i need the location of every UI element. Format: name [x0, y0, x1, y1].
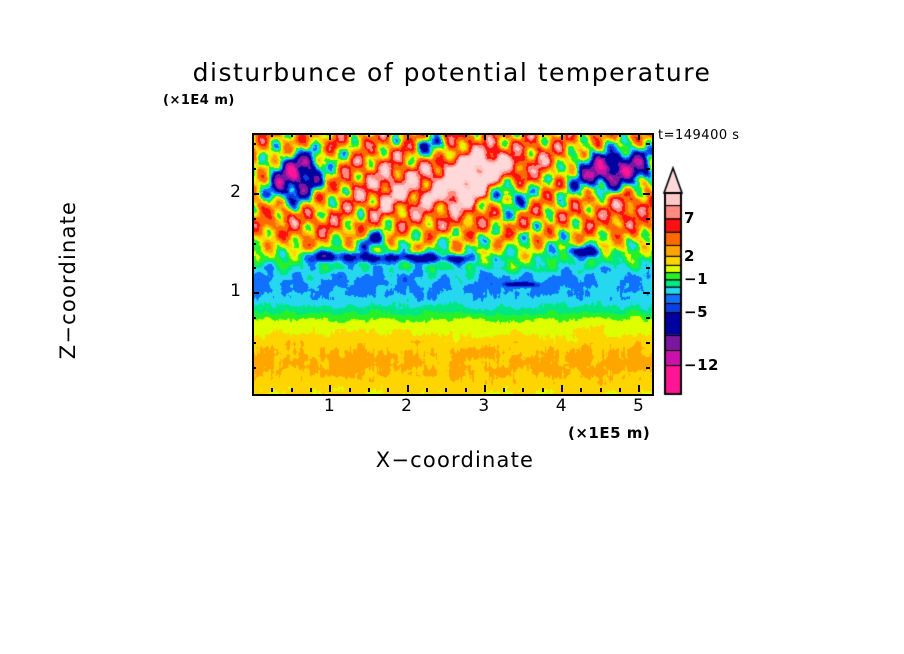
x-minor-tick-top: [619, 133, 621, 137]
y-minor-tick-right: [646, 267, 650, 269]
colorbar-tick-label: −1: [684, 270, 708, 288]
x-major-tick-top: [329, 133, 331, 140]
y-minor-tick: [252, 243, 256, 245]
y-major-tick: [252, 193, 259, 195]
x-axis-unit-label: (×1E5 m): [568, 424, 650, 442]
chart-title: disturbunce of potential temperature: [0, 58, 904, 87]
y-tick-label: 1: [215, 281, 241, 301]
x-tick-label: 4: [546, 396, 576, 416]
y-minor-tick: [252, 267, 256, 269]
y-minor-tick-right: [646, 317, 650, 319]
x-minor-tick: [426, 388, 428, 392]
y-minor-tick-right: [646, 143, 650, 145]
x-minor-tick: [522, 388, 524, 392]
y-major-tick-right: [643, 193, 650, 195]
y-axis-unit-label: (×1E4 m): [163, 93, 235, 108]
colorbar-tick-label: −5: [684, 303, 708, 321]
x-major-tick: [638, 385, 640, 392]
x-minor-tick: [387, 388, 389, 392]
y-minor-tick-right: [646, 367, 650, 369]
x-major-tick-top: [638, 133, 640, 140]
x-tick-label: 3: [469, 396, 499, 416]
x-major-tick-top: [561, 133, 563, 140]
y-major-tick-right: [643, 292, 650, 294]
x-minor-tick: [503, 388, 505, 392]
x-minor-tick: [600, 388, 602, 392]
plot-frame: [252, 133, 654, 396]
x-minor-tick-top: [445, 133, 447, 137]
x-axis-label: X−coordinate: [240, 448, 670, 472]
x-minor-tick-top: [291, 133, 293, 137]
x-minor-tick: [349, 388, 351, 392]
x-minor-tick-top: [542, 133, 544, 137]
x-minor-tick-top: [522, 133, 524, 137]
y-minor-tick: [252, 317, 256, 319]
y-minor-tick: [252, 218, 256, 220]
time-label: t=149400 s: [658, 128, 740, 143]
x-tick-label: 1: [314, 396, 344, 416]
y-minor-tick: [252, 143, 256, 145]
x-minor-tick: [368, 388, 370, 392]
x-minor-tick: [465, 388, 467, 392]
x-minor-tick-top: [600, 133, 602, 137]
colorbar-tick-label: −12: [684, 356, 719, 374]
y-tick-label: 2: [215, 182, 241, 202]
x-minor-tick: [310, 388, 312, 392]
x-minor-tick-top: [580, 133, 582, 137]
x-minor-tick: [542, 388, 544, 392]
x-minor-tick-top: [465, 133, 467, 137]
x-major-tick: [561, 385, 563, 392]
y-minor-tick-right: [646, 243, 650, 245]
x-major-tick-top: [407, 133, 409, 140]
y-minor-tick: [252, 168, 256, 170]
x-major-tick-top: [484, 133, 486, 140]
x-minor-tick-top: [349, 133, 351, 137]
x-tick-label: 2: [392, 396, 422, 416]
contour-field: [254, 135, 652, 394]
x-minor-tick: [619, 388, 621, 392]
x-tick-label: 5: [623, 396, 653, 416]
y-major-tick: [252, 292, 259, 294]
y-minor-tick: [252, 367, 256, 369]
x-major-tick: [407, 385, 409, 392]
colorbar-tick-label: 7: [684, 209, 695, 227]
y-minor-tick: [252, 342, 256, 344]
x-minor-tick: [291, 388, 293, 392]
y-minor-tick-right: [646, 168, 650, 170]
x-minor-tick-top: [387, 133, 389, 137]
x-minor-tick-top: [310, 133, 312, 137]
x-minor-tick-top: [368, 133, 370, 137]
x-minor-tick-top: [271, 133, 273, 137]
x-minor-tick-top: [503, 133, 505, 137]
x-major-tick: [484, 385, 486, 392]
x-minor-tick-top: [426, 133, 428, 137]
x-major-tick: [329, 385, 331, 392]
x-minor-tick: [271, 388, 273, 392]
y-minor-tick-right: [646, 218, 650, 220]
y-minor-tick-right: [646, 342, 650, 344]
x-minor-tick: [580, 388, 582, 392]
y-axis-label: Z−coordinate: [56, 150, 80, 410]
colorbar-tick-label: 2: [684, 247, 695, 265]
x-minor-tick: [445, 388, 447, 392]
